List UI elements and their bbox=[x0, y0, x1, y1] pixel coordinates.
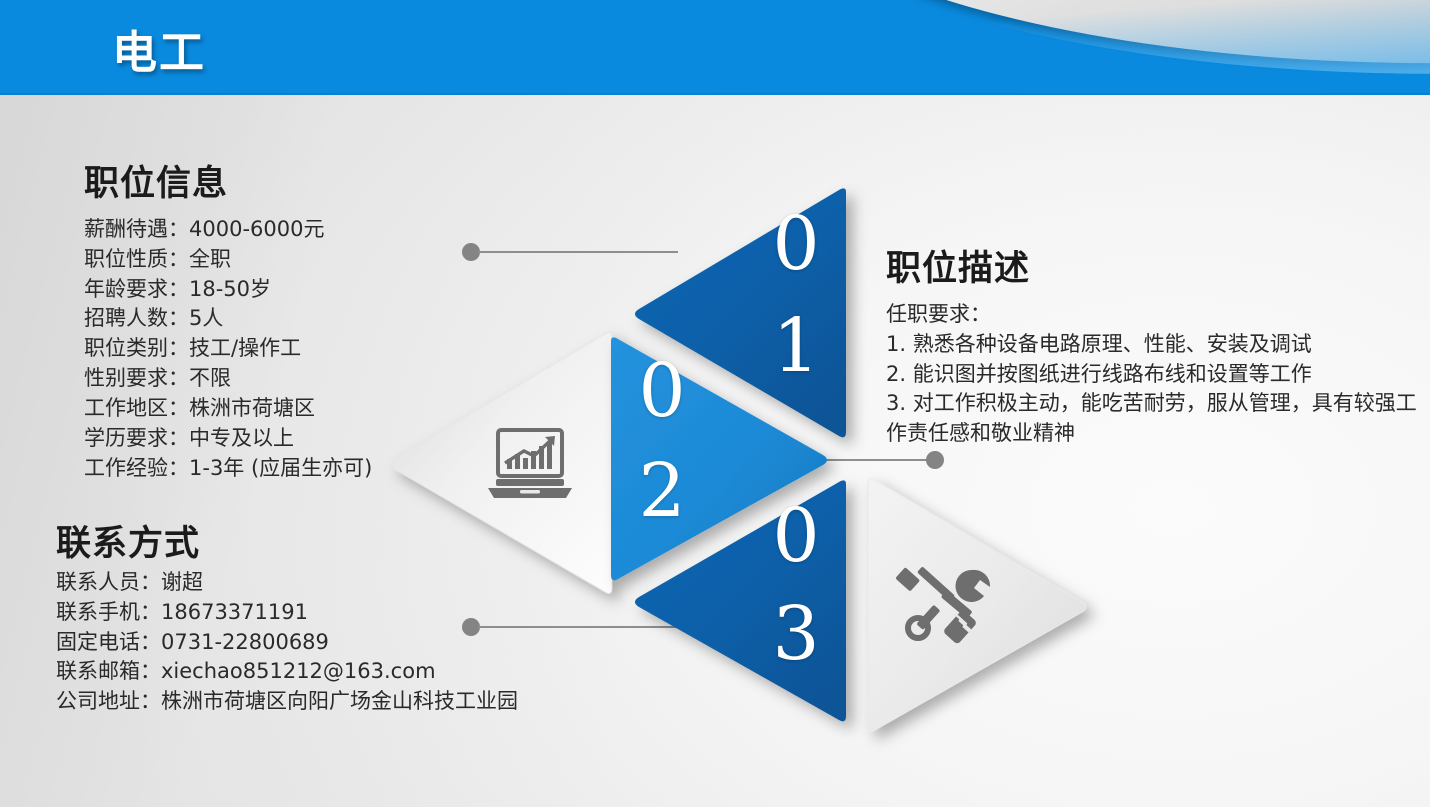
marker-digit: 3 bbox=[760, 600, 832, 668]
job-info-title: 职位信息 bbox=[84, 155, 228, 206]
marker-digit: 0 bbox=[760, 210, 832, 278]
job-description-line: 2. 能识图并按图纸进行线路布线和设置等工作 bbox=[886, 360, 1430, 390]
contact-title: 联系方式 bbox=[56, 515, 200, 566]
job-info-line: 职位类别：技工/操作工 bbox=[84, 334, 372, 364]
connector-line-middle bbox=[820, 459, 932, 461]
icon-tile-laptop bbox=[386, 330, 626, 598]
job-description-title: 职位描述 bbox=[886, 240, 1030, 291]
icon-tile-tools bbox=[858, 476, 1098, 738]
contact-line: 联系人员：谢超 bbox=[56, 568, 518, 598]
contact-list: 联系人员：谢超 联系手机：18673371191 固定电话：0731-22800… bbox=[56, 568, 518, 717]
marker-digit: 0 bbox=[626, 357, 698, 425]
job-info-line: 工作经验：1-3年 (应届生亦可) bbox=[84, 454, 372, 484]
job-info-line: 薪酬待遇：4000-6000元 bbox=[84, 215, 372, 245]
job-info-list: 薪酬待遇：4000-6000元 职位性质：全职 年龄要求：18-50岁 招聘人数… bbox=[84, 215, 372, 483]
contact-line: 固定电话：0731-22800689 bbox=[56, 628, 518, 658]
slide-canvas: 电工 bbox=[0, 0, 1430, 807]
job-description-line: 1. 熟悉各种设备电路原理、性能、安装及调试 bbox=[886, 330, 1430, 360]
job-info-line: 职位性质：全职 bbox=[84, 245, 372, 275]
job-info-line: 工作地区：株洲市荷塘区 bbox=[84, 394, 372, 424]
marker-digit: 0 bbox=[760, 502, 832, 570]
header-swoosh-edge bbox=[683, 0, 1430, 95]
job-info-line: 性别要求：不限 bbox=[84, 364, 372, 394]
header-divider bbox=[0, 93, 1430, 96]
marker-triangle-03[interactable]: 0 3 bbox=[630, 478, 860, 728]
slide-header: 电工 bbox=[0, 0, 1430, 95]
page-title: 电工 bbox=[112, 16, 206, 81]
job-description-line: 任职要求： bbox=[886, 300, 1430, 330]
contact-line: 公司地址：株洲市荷塘区向阳广场金山科技工业园 bbox=[56, 687, 518, 717]
job-info-line: 年龄要求：18-50岁 bbox=[84, 275, 372, 305]
job-description-list: 任职要求： 1. 熟悉各种设备电路原理、性能、安装及调试 2. 能识图并按图纸进… bbox=[886, 300, 1430, 449]
marker-number-03: 0 3 bbox=[760, 502, 832, 668]
connector-dot-middle bbox=[926, 451, 944, 469]
contact-line: 联系邮箱：xiechao851212@163.com bbox=[56, 657, 518, 687]
job-description-line: 3. 对工作积极主动，能吃苦耐劳，服从管理，具有较强工作责任感和敬业精神 bbox=[886, 389, 1430, 449]
job-info-line: 招聘人数：5人 bbox=[84, 304, 372, 334]
contact-line: 联系手机：18673371191 bbox=[56, 598, 518, 628]
job-info-line: 学历要求：中专及以上 bbox=[84, 424, 372, 454]
